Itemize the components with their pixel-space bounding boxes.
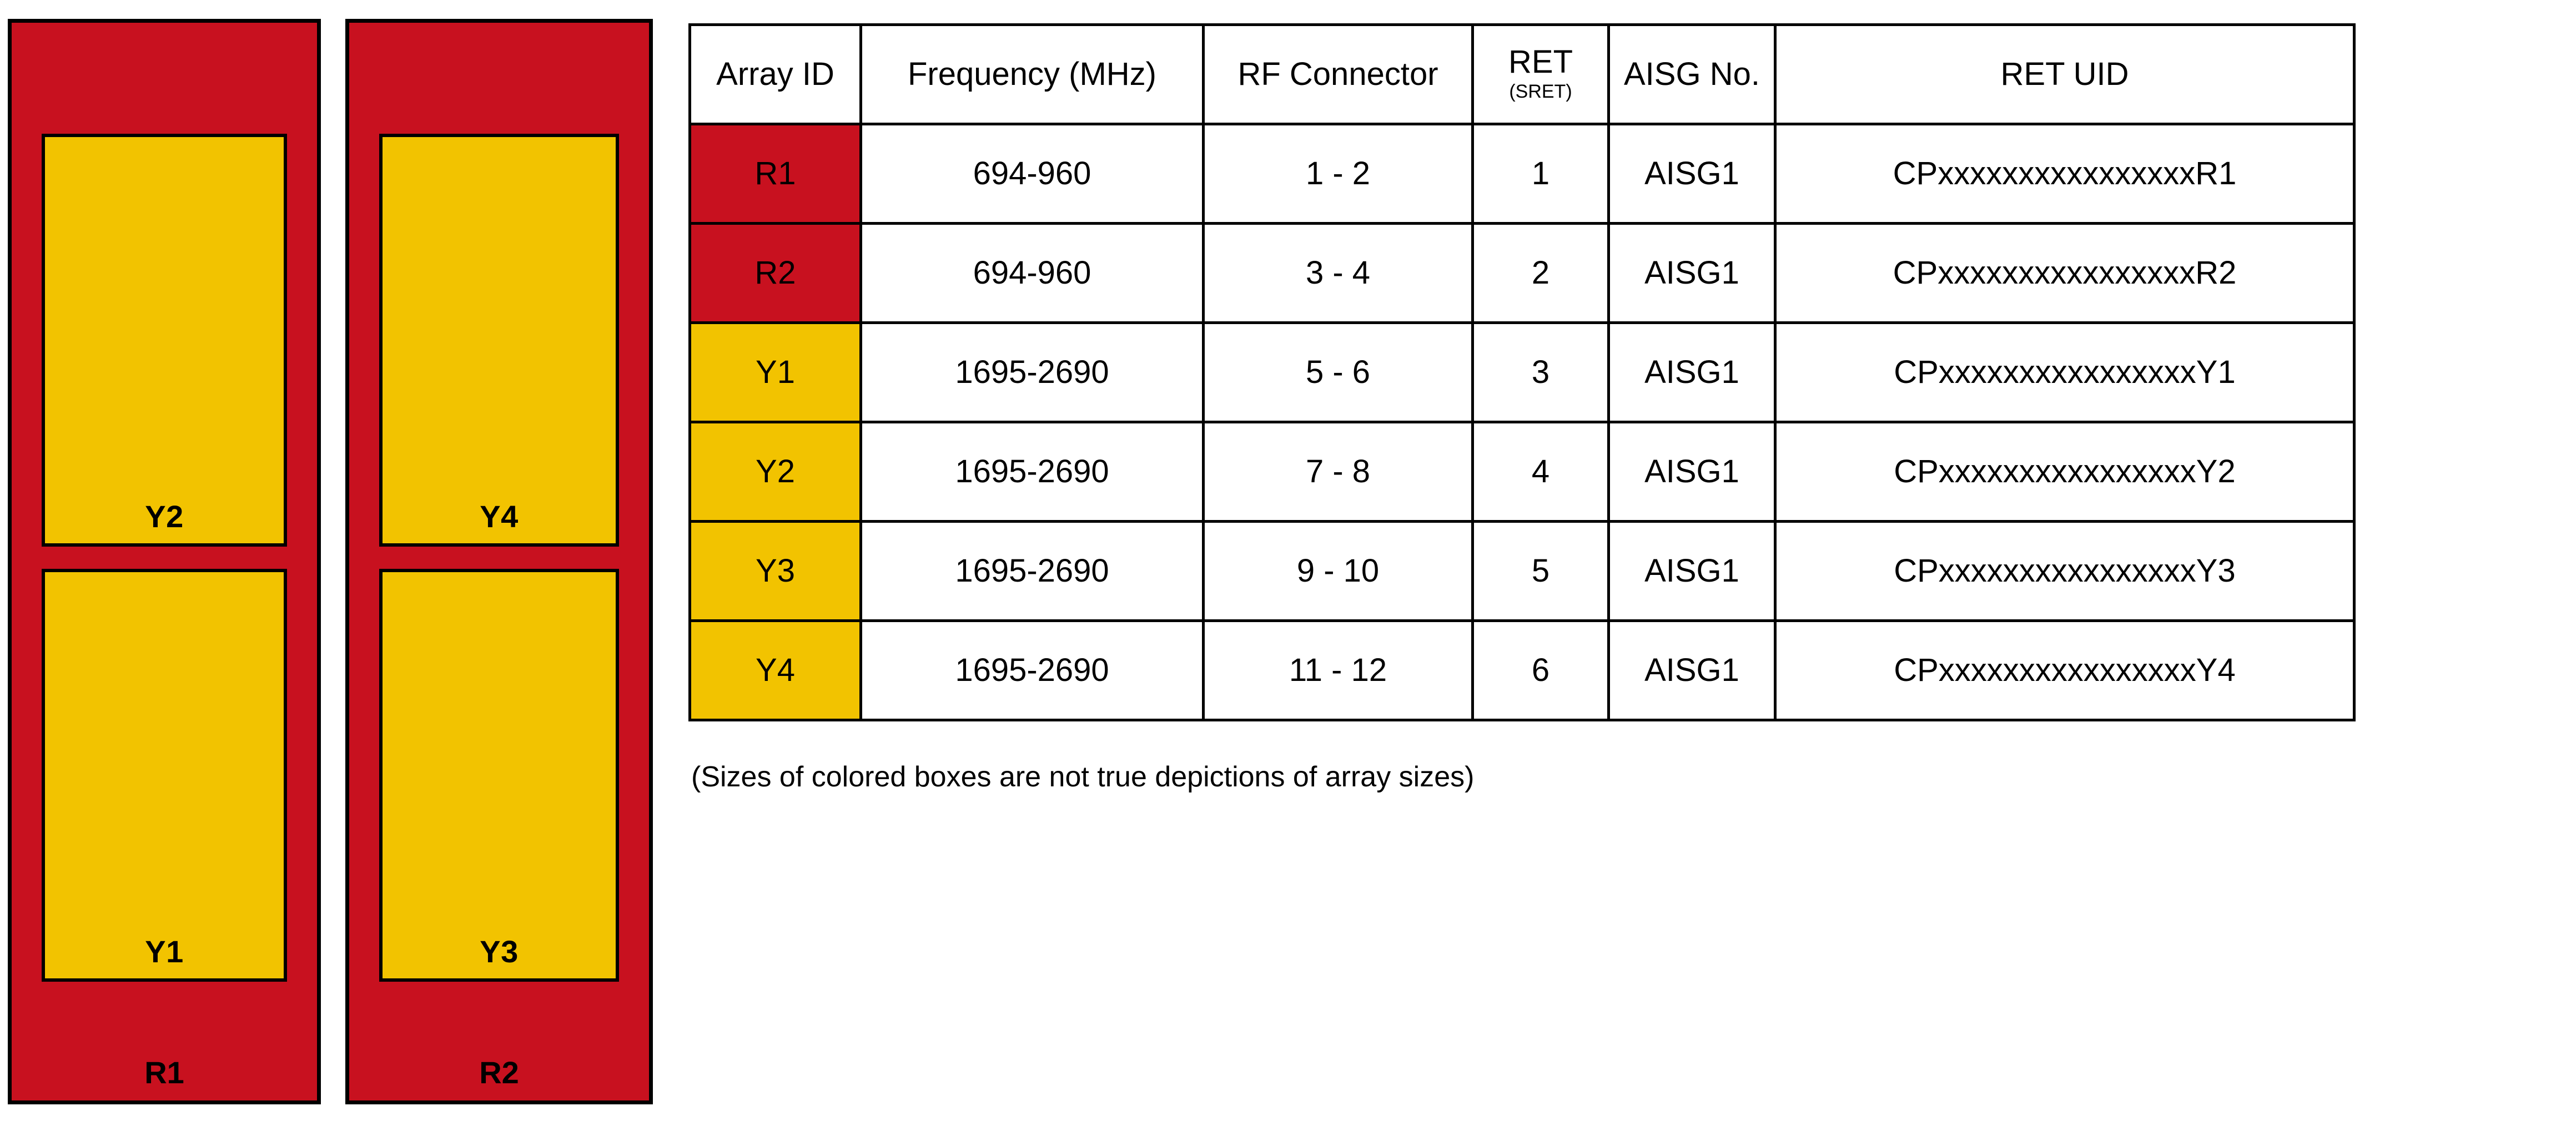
cell-ret-uid: CPxxxxxxxxxxxxxxxxY3: [1775, 522, 2354, 621]
cell-array-id: Y1: [690, 323, 861, 422]
cell-aisg-no: AISG1: [1609, 621, 1775, 720]
footnote-text: (Sizes of colored boxes are not true dep…: [691, 760, 1474, 794]
cell-aisg-no: AISG1: [1609, 124, 1775, 224]
subarray-box-y1: Y1: [42, 569, 287, 982]
cell-rf-connector: 3 - 4: [1204, 224, 1473, 323]
cell-ret: 6: [1473, 621, 1609, 720]
array-panel-r2: Y4 Y3 R2: [345, 19, 653, 1104]
subarray-label-y4: Y4: [480, 501, 519, 543]
cell-frequency: 694-960: [861, 224, 1204, 323]
subarray-label-y3: Y3: [480, 936, 519, 978]
cell-rf-connector: 1 - 2: [1204, 124, 1473, 224]
cell-array-id: Y2: [690, 422, 861, 522]
table-row: Y4 1695-2690 11 - 12 6 AISG1 CPxxxxxxxxx…: [690, 621, 2354, 720]
cell-frequency: 1695-2690: [861, 323, 1204, 422]
cell-rf-connector: 9 - 10: [1204, 522, 1473, 621]
cell-rf-connector: 11 - 12: [1204, 621, 1473, 720]
cell-ret: 5: [1473, 522, 1609, 621]
cell-aisg-no: AISG1: [1609, 323, 1775, 422]
cell-rf-connector: 7 - 8: [1204, 422, 1473, 522]
cell-ret: 3: [1473, 323, 1609, 422]
column-header-aisg-no: AISG No.: [1609, 25, 1775, 124]
ret-configuration-table-container: Array ID Frequency (MHz) RF Connector RE…: [688, 23, 2353, 721]
subarray-label-y1: Y1: [145, 936, 184, 978]
table-row: R2 694-960 3 - 4 2 AISG1 CPxxxxxxxxxxxxx…: [690, 224, 2354, 323]
cell-ret-uid: CPxxxxxxxxxxxxxxxxR2: [1775, 224, 2354, 323]
table-body: R1 694-960 1 - 2 1 AISG1 CPxxxxxxxxxxxxx…: [690, 124, 2354, 720]
cell-aisg-no: AISG1: [1609, 224, 1775, 323]
page-canvas: Y2 Y1 R1 Y4 Y3 R2: [0, 0, 2576, 1121]
cell-array-id: Y4: [690, 621, 861, 720]
table-header-row: Array ID Frequency (MHz) RF Connector RE…: [690, 25, 2354, 124]
table-row: Y1 1695-2690 5 - 6 3 AISG1 CPxxxxxxxxxxx…: [690, 323, 2354, 422]
cell-ret-uid: CPxxxxxxxxxxxxxxxxY4: [1775, 621, 2354, 720]
cell-frequency: 1695-2690: [861, 621, 1204, 720]
antenna-array-diagram: Y2 Y1 R1 Y4 Y3 R2: [8, 19, 652, 1107]
column-header-ret-sub: (SRET): [1474, 80, 1607, 103]
column-header-ret-main: RET: [1474, 46, 1607, 78]
table-header: Array ID Frequency (MHz) RF Connector RE…: [690, 25, 2354, 124]
column-header-rf-connector: RF Connector: [1204, 25, 1473, 124]
cell-frequency: 1695-2690: [861, 422, 1204, 522]
array-panel-label-r1: R1: [12, 1057, 317, 1088]
cell-frequency: 1695-2690: [861, 522, 1204, 621]
cell-array-id: R1: [690, 124, 861, 224]
subarray-box-y2: Y2: [42, 134, 287, 547]
column-header-frequency: Frequency (MHz): [861, 25, 1204, 124]
subarray-box-y4: Y4: [379, 134, 619, 547]
subarray-box-y3: Y3: [379, 569, 619, 982]
table-row: Y2 1695-2690 7 - 8 4 AISG1 CPxxxxxxxxxxx…: [690, 422, 2354, 522]
cell-aisg-no: AISG1: [1609, 422, 1775, 522]
array-panel-label-r2: R2: [349, 1057, 649, 1088]
ret-configuration-table: Array ID Frequency (MHz) RF Connector RE…: [688, 23, 2356, 721]
cell-ret: 4: [1473, 422, 1609, 522]
subarray-label-y2: Y2: [145, 501, 184, 543]
cell-array-id: R2: [690, 224, 861, 323]
cell-rf-connector: 5 - 6: [1204, 323, 1473, 422]
cell-ret-uid: CPxxxxxxxxxxxxxxxxY1: [1775, 323, 2354, 422]
cell-ret: 1: [1473, 124, 1609, 224]
table-row: Y3 1695-2690 9 - 10 5 AISG1 CPxxxxxxxxxx…: [690, 522, 2354, 621]
column-header-ret: RET (SRET): [1473, 25, 1609, 124]
cell-frequency: 694-960: [861, 124, 1204, 224]
cell-aisg-no: AISG1: [1609, 522, 1775, 621]
column-header-ret-uid: RET UID: [1775, 25, 2354, 124]
cell-ret-uid: CPxxxxxxxxxxxxxxxxY2: [1775, 422, 2354, 522]
column-header-array-id: Array ID: [690, 25, 861, 124]
table-row: R1 694-960 1 - 2 1 AISG1 CPxxxxxxxxxxxxx…: [690, 124, 2354, 224]
array-panel-r1: Y2 Y1 R1: [8, 19, 321, 1104]
cell-array-id: Y3: [690, 522, 861, 621]
cell-ret-uid: CPxxxxxxxxxxxxxxxxR1: [1775, 124, 2354, 224]
cell-ret: 2: [1473, 224, 1609, 323]
